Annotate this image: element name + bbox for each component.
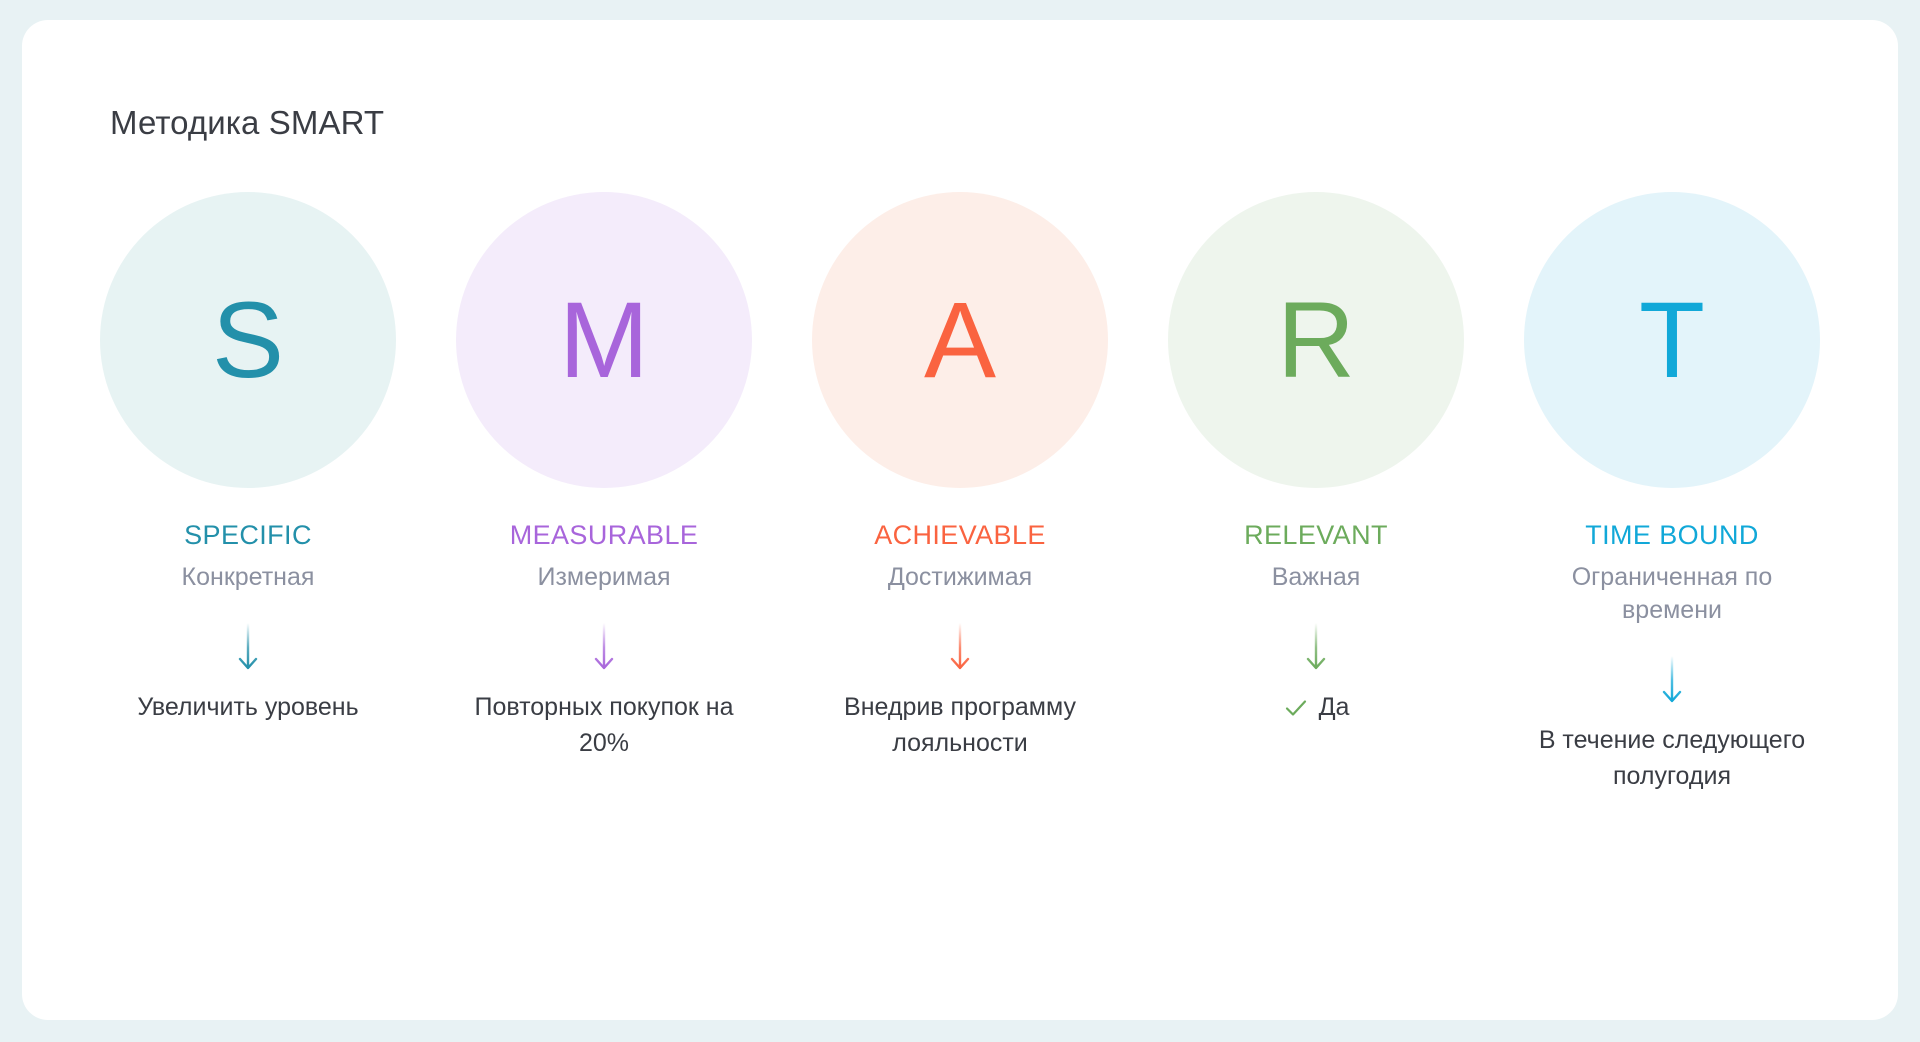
example-text: Да <box>1319 690 1350 726</box>
check-icon <box>1283 695 1309 721</box>
arrow-down-icon-time-bound <box>1659 655 1685 707</box>
letter-circle-t: T <box>1524 192 1820 488</box>
smart-column-relevant: R RELEVANT Важная <box>1156 192 1476 726</box>
smart-card: Методика SMART S SPECIFIC Конкретная <box>22 20 1898 1020</box>
arrow-down-icon <box>235 622 261 672</box>
example-value-measurable: Повторных покупок на 20% <box>454 690 754 761</box>
circle-letter-glyph-s: S <box>212 286 284 394</box>
circle-letter-glyph-t: T <box>1639 286 1705 394</box>
term-label-achievable: ACHIEVABLE <box>874 520 1046 551</box>
smart-column-specific: S SPECIFIC Конкретная <box>88 192 408 726</box>
smart-column-measurable: M MEASURABLE Измеримая <box>444 192 764 761</box>
circle-letter-glyph-a: A <box>924 286 996 394</box>
arrow-down-icon <box>591 622 617 672</box>
example-value-relevant: Да <box>1283 690 1350 726</box>
arrow-down-icon-measurable <box>591 622 617 674</box>
translation-label-measurable: Измеримая <box>537 561 670 594</box>
smart-columns: S SPECIFIC Конкретная <box>88 192 1832 794</box>
term-label-specific: SPECIFIC <box>184 520 312 551</box>
example-text: Повторных покупок на 20% <box>454 690 754 761</box>
translation-label-specific: Конкретная <box>182 561 315 594</box>
term-label-measurable: MEASURABLE <box>510 520 699 551</box>
term-label-relevant: RELEVANT <box>1244 520 1388 551</box>
circle-letter-glyph-m: M <box>559 286 649 394</box>
term-label-time-bound: TIME BOUND <box>1585 520 1759 551</box>
letter-circle-s: S <box>100 192 396 488</box>
translation-label-achievable: Достижимая <box>888 561 1032 594</box>
example-value-achievable: Внедрив программу лояльности <box>810 690 1110 761</box>
circle-letter-glyph-r: R <box>1277 286 1355 394</box>
translation-label-relevant: Важная <box>1272 561 1361 594</box>
arrow-down-icon-relevant <box>1303 622 1329 674</box>
example-text: Внедрив программу лояльности <box>810 690 1110 761</box>
translation-label-time-bound: Ограниченная по времени <box>1522 561 1822 627</box>
arrow-down-icon <box>1659 655 1685 705</box>
arrow-down-icon <box>1303 622 1329 672</box>
letter-circle-r: R <box>1168 192 1464 488</box>
example-text: В течение следующего полугодия <box>1522 723 1822 794</box>
letter-circle-m: M <box>456 192 752 488</box>
example-text: Увеличить уровень <box>137 690 358 726</box>
page-root: Методика SMART S SPECIFIC Конкретная <box>0 0 1920 1042</box>
letter-circle-a: A <box>812 192 1108 488</box>
page-title: Методика SMART <box>110 104 384 142</box>
arrow-down-icon <box>947 622 973 672</box>
example-value-time-bound: В течение следующего полугодия <box>1522 723 1822 794</box>
smart-column-time-bound: T TIME BOUND Ограниченная по времени <box>1512 192 1832 794</box>
arrow-down-icon-achievable <box>947 622 973 674</box>
smart-column-achievable: A ACHIEVABLE Достижимая <box>800 192 1120 761</box>
example-value-specific: Увеличить уровень <box>137 690 358 726</box>
arrow-down-icon-specific <box>235 622 261 674</box>
